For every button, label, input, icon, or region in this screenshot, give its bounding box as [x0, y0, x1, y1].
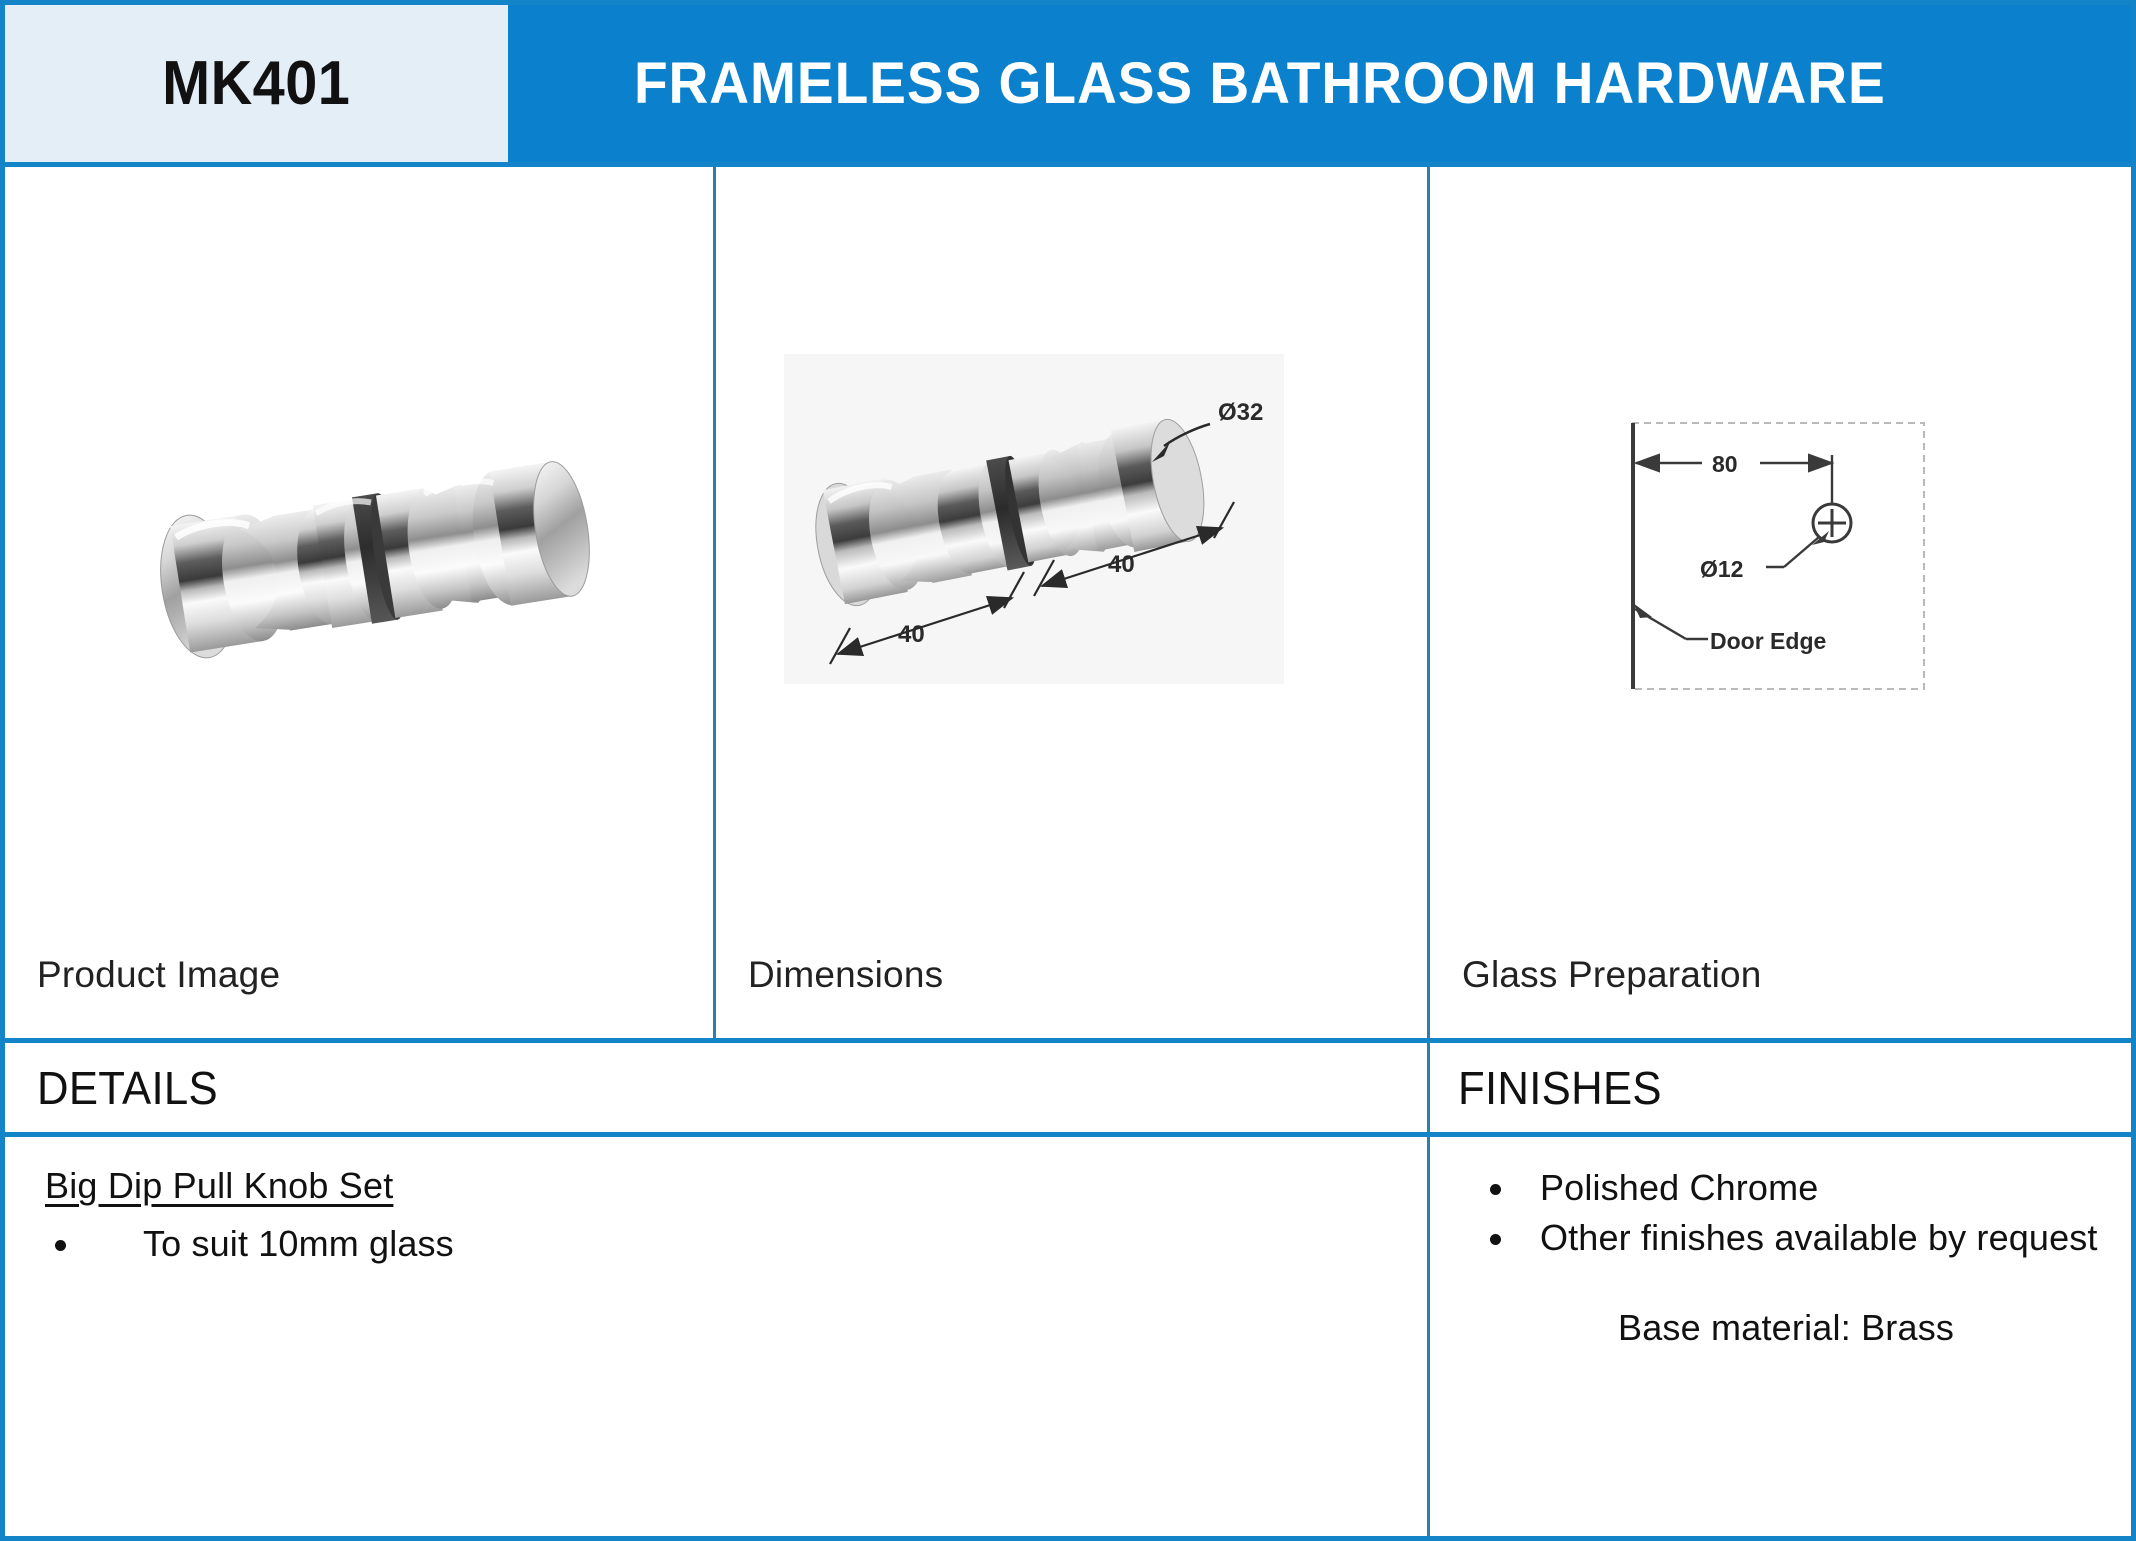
glass-preparation-drawing: 80 Ø12 Door Edge [1616, 411, 1946, 711]
page-title: FRAMELESS GLASS BATHROOM HARDWARE [634, 50, 1886, 117]
caption-glass-preparation: Glass Preparation [1430, 954, 2131, 1038]
bullet-icon [1490, 1184, 1501, 1195]
caption-dimensions: Dimensions [716, 954, 1427, 1038]
label-edge-distance-80: 80 [1712, 451, 1738, 477]
list-item: Polished Chrome [1458, 1165, 2131, 1211]
finish-option-polished-chrome: Polished Chrome [1540, 1167, 1818, 1208]
caption-product-image: Product Image [5, 954, 713, 1038]
list-item: To suit 10mm glass [45, 1221, 1427, 1267]
section-headers-row: DETAILS FINISHES [0, 1043, 2136, 1137]
dimensions-stage: Ø32 40 40 [716, 167, 1427, 954]
panel-dimensions: Ø32 40 40 Di [713, 167, 1430, 1038]
section-header-details: DETAILS [5, 1043, 1430, 1132]
details-bullet-text: To suit 10mm glass [143, 1223, 454, 1264]
details-bullet-list: To suit 10mm glass [45, 1221, 1427, 1267]
label-length-right: 40 [1108, 551, 1135, 578]
section-bodies-row: Big Dip Pull Knob Set To suit 10mm glass… [0, 1137, 2136, 1541]
product-code-text: MK401 [162, 48, 350, 119]
label-hole-diameter-12: Ø12 [1700, 556, 1743, 582]
chrome-knob-illustration [124, 431, 594, 691]
image-panels-row: Product Image [0, 167, 2136, 1043]
finish-option-other: Other finishes available by request [1540, 1217, 2098, 1258]
details-product-name: Big Dip Pull Knob Set [45, 1165, 1427, 1207]
glass-prep-stage: 80 Ø12 Door Edge [1430, 167, 2131, 954]
label-door-edge: Door Edge [1710, 628, 1826, 654]
finishes-bullet-list: Polished Chrome Other finishes available… [1458, 1165, 2131, 1261]
label-length-left: 40 [898, 621, 925, 648]
panel-product-image: Product Image [5, 167, 713, 1038]
details-content: Big Dip Pull Knob Set To suit 10mm glass [5, 1137, 1430, 1536]
list-item: Other finishes available by request [1458, 1215, 2131, 1261]
sheet-header: MK401 FRAMELESS GLASS BATHROOM HARDWARE [0, 0, 2136, 167]
bullet-icon [55, 1240, 66, 1251]
details-heading: DETAILS [37, 1061, 218, 1115]
product-image-stage [5, 167, 713, 954]
header-title-area: FRAMELESS GLASS BATHROOM HARDWARE [508, 5, 2131, 162]
finishes-heading: FINISHES [1458, 1061, 1662, 1115]
section-header-finishes: FINISHES [1430, 1043, 2131, 1132]
base-material-text: Base material: Brass [1458, 1307, 2131, 1349]
dimensions-drawing: Ø32 40 40 [772, 346, 1372, 776]
product-code-badge: MK401 [5, 5, 508, 162]
bullet-icon [1490, 1234, 1501, 1245]
finishes-content: Polished Chrome Other finishes available… [1430, 1137, 2131, 1536]
product-spec-sheet: MK401 FRAMELESS GLASS BATHROOM HARDWARE [0, 0, 2136, 1541]
panel-glass-preparation: 80 Ø12 Door Edge Glass [1430, 167, 2131, 1038]
label-diameter-32: Ø32 [1218, 399, 1263, 426]
